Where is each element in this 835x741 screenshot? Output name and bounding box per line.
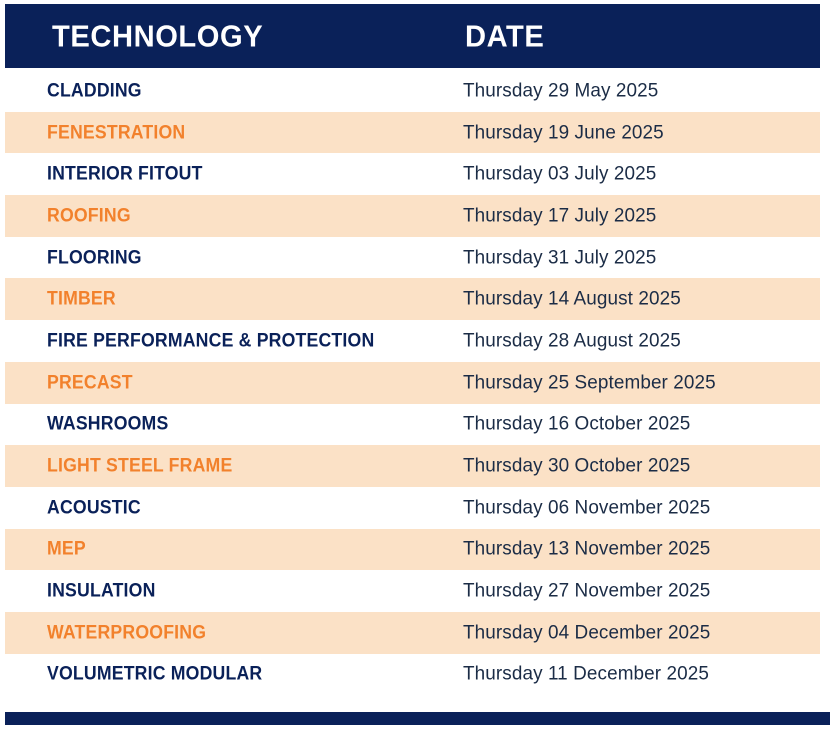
cell-technology: INSULATION: [47, 582, 156, 601]
table-row: TIMBERThursday 14 August 2025: [0, 278, 835, 320]
cell-date: Thursday 03 July 2025: [463, 164, 656, 184]
table-row: INSULATIONThursday 27 November 2025: [0, 570, 835, 612]
cell-date: Thursday 13 November 2025: [463, 540, 710, 560]
cell-date: Thursday 31 July 2025: [463, 248, 656, 268]
table-footer-bar: [5, 712, 830, 725]
table-row: MEPThursday 13 November 2025: [0, 529, 835, 571]
cell-technology: WATERPROOFING: [47, 623, 206, 642]
column-header-date: DATE: [465, 21, 544, 52]
cell-date: Thursday 27 November 2025: [463, 581, 710, 601]
cell-date: Thursday 17 July 2025: [463, 206, 656, 226]
cell-date: Thursday 04 December 2025: [463, 623, 710, 643]
cell-date: Thursday 25 September 2025: [463, 373, 716, 393]
table-row: VOLUMETRIC MODULARThursday 11 December 2…: [0, 654, 835, 696]
cell-technology: ROOFING: [47, 206, 131, 225]
cell-date: Thursday 19 June 2025: [463, 123, 664, 143]
cell-date: Thursday 14 August 2025: [463, 290, 681, 310]
cell-technology: CLADDING: [47, 81, 142, 100]
cell-technology: VOLUMETRIC MODULAR: [47, 665, 262, 684]
cell-technology: WASHROOMS: [47, 415, 168, 434]
cell-date: Thursday 11 December 2025: [463, 665, 709, 685]
cell-technology: PRECAST: [47, 373, 133, 392]
cell-technology: LIGHT STEEL FRAME: [47, 457, 232, 476]
table-row: LIGHT STEEL FRAMEThursday 30 October 202…: [0, 445, 835, 487]
column-header-technology: TECHNOLOGY: [52, 21, 263, 52]
table-row: PRECASTThursday 25 September 2025: [0, 362, 835, 404]
cell-date: Thursday 29 May 2025: [463, 81, 658, 101]
row-background: [5, 278, 820, 320]
cell-date: Thursday 28 August 2025: [463, 331, 681, 351]
cell-technology: MEP: [47, 540, 86, 559]
table-row: ACOUSTICThursday 06 November 2025: [0, 487, 835, 529]
cell-technology: ACOUSTIC: [47, 498, 141, 517]
table-row: FENESTRATIONThursday 19 June 2025: [0, 112, 835, 154]
table-body: CLADDINGThursday 29 May 2025FENESTRATION…: [0, 70, 835, 695]
cell-date: Thursday 06 November 2025: [463, 498, 710, 518]
technology-schedule-table: TECHNOLOGY DATE CLADDINGThursday 29 May …: [0, 0, 835, 741]
table-row: FLOORINGThursday 31 July 2025: [0, 237, 835, 279]
cell-technology: FLOORING: [47, 248, 142, 267]
table-row: CLADDINGThursday 29 May 2025: [0, 70, 835, 112]
cell-technology: FIRE PERFORMANCE & PROTECTION: [47, 331, 374, 350]
table-row: ROOFINGThursday 17 July 2025: [0, 195, 835, 237]
table-row: WASHROOMSThursday 16 October 2025: [0, 404, 835, 446]
cell-date: Thursday 30 October 2025: [463, 456, 690, 476]
table-row: WATERPROOFINGThursday 04 December 2025: [0, 612, 835, 654]
table-row: FIRE PERFORMANCE & PROTECTIONThursday 28…: [0, 320, 835, 362]
cell-technology: FENESTRATION: [47, 123, 185, 142]
cell-technology: TIMBER: [47, 290, 116, 309]
cell-technology: INTERIOR FITOUT: [47, 165, 203, 184]
cell-date: Thursday 16 October 2025: [463, 415, 690, 435]
table-row: INTERIOR FITOUTThursday 03 July 2025: [0, 153, 835, 195]
table-header-row: TECHNOLOGY DATE: [5, 4, 820, 68]
